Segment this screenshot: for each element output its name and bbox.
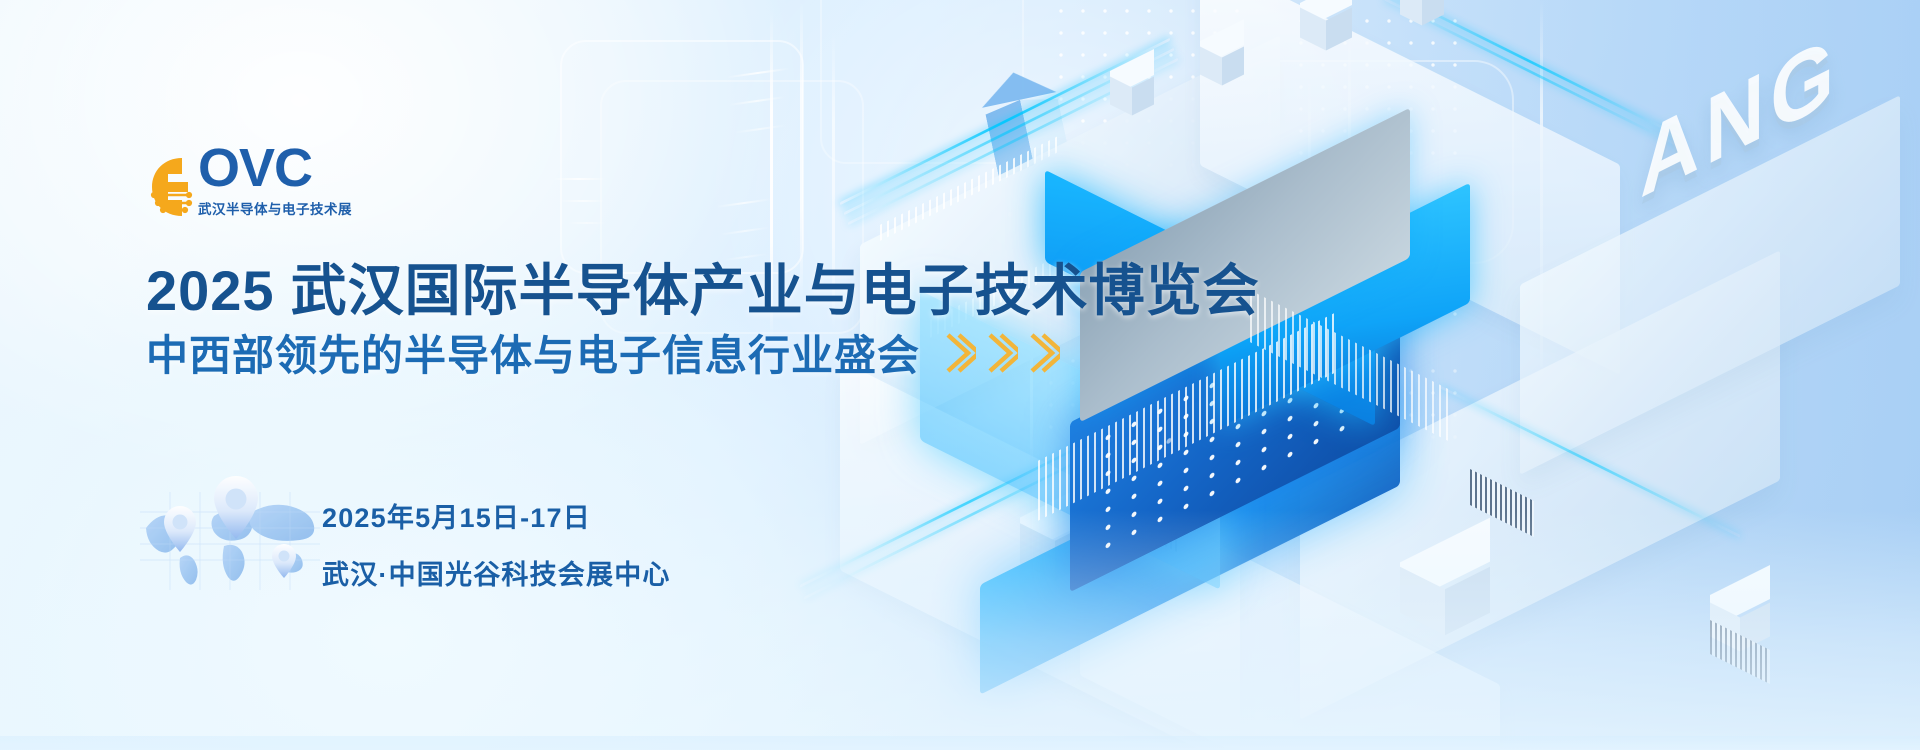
logo-subtitle: 武汉半导体与电子技术展 bbox=[198, 198, 352, 218]
event-info: 2025年5月15日-17日 武汉·中国光谷科技会展中心 bbox=[322, 496, 671, 592]
subtitle-text: 中西部领先的半导体与电子信息行业盛会 bbox=[146, 322, 920, 383]
event-banner: ANG bbox=[0, 0, 1920, 750]
event-date: 2025年5月15日-17日 bbox=[322, 496, 671, 535]
chevron-group bbox=[946, 331, 1060, 375]
double-chevron-right-icon bbox=[988, 331, 1018, 375]
headline-year: 2025 bbox=[146, 259, 275, 322]
event-venue: 武汉·中国光谷科技会展中心 bbox=[322, 553, 671, 592]
circuit-chip-icon bbox=[148, 156, 194, 218]
headline-title: 武汉国际半导体产业与电子技术博览会 bbox=[291, 259, 1260, 322]
double-chevron-right-icon bbox=[946, 331, 976, 375]
logo-wordmark: OVC bbox=[198, 143, 312, 195]
ovc-logo[interactable]: OVC 武汉半导体与电子技术展 bbox=[148, 143, 352, 218]
world-map-location-pins-icon bbox=[140, 472, 320, 592]
banner-content: OVC 武汉半导体与电子技术展 2025武汉国际半导体产业与电子技术博览会 中西… bbox=[0, 0, 1920, 750]
double-chevron-right-icon bbox=[1030, 331, 1060, 375]
page-title: 2025武汉国际半导体产业与电子技术博览会 bbox=[146, 246, 1260, 327]
page-subtitle: 中西部领先的半导体与电子信息行业盛会 bbox=[146, 322, 1060, 383]
logo-text-block: OVC 武汉半导体与电子技术展 bbox=[198, 143, 352, 218]
